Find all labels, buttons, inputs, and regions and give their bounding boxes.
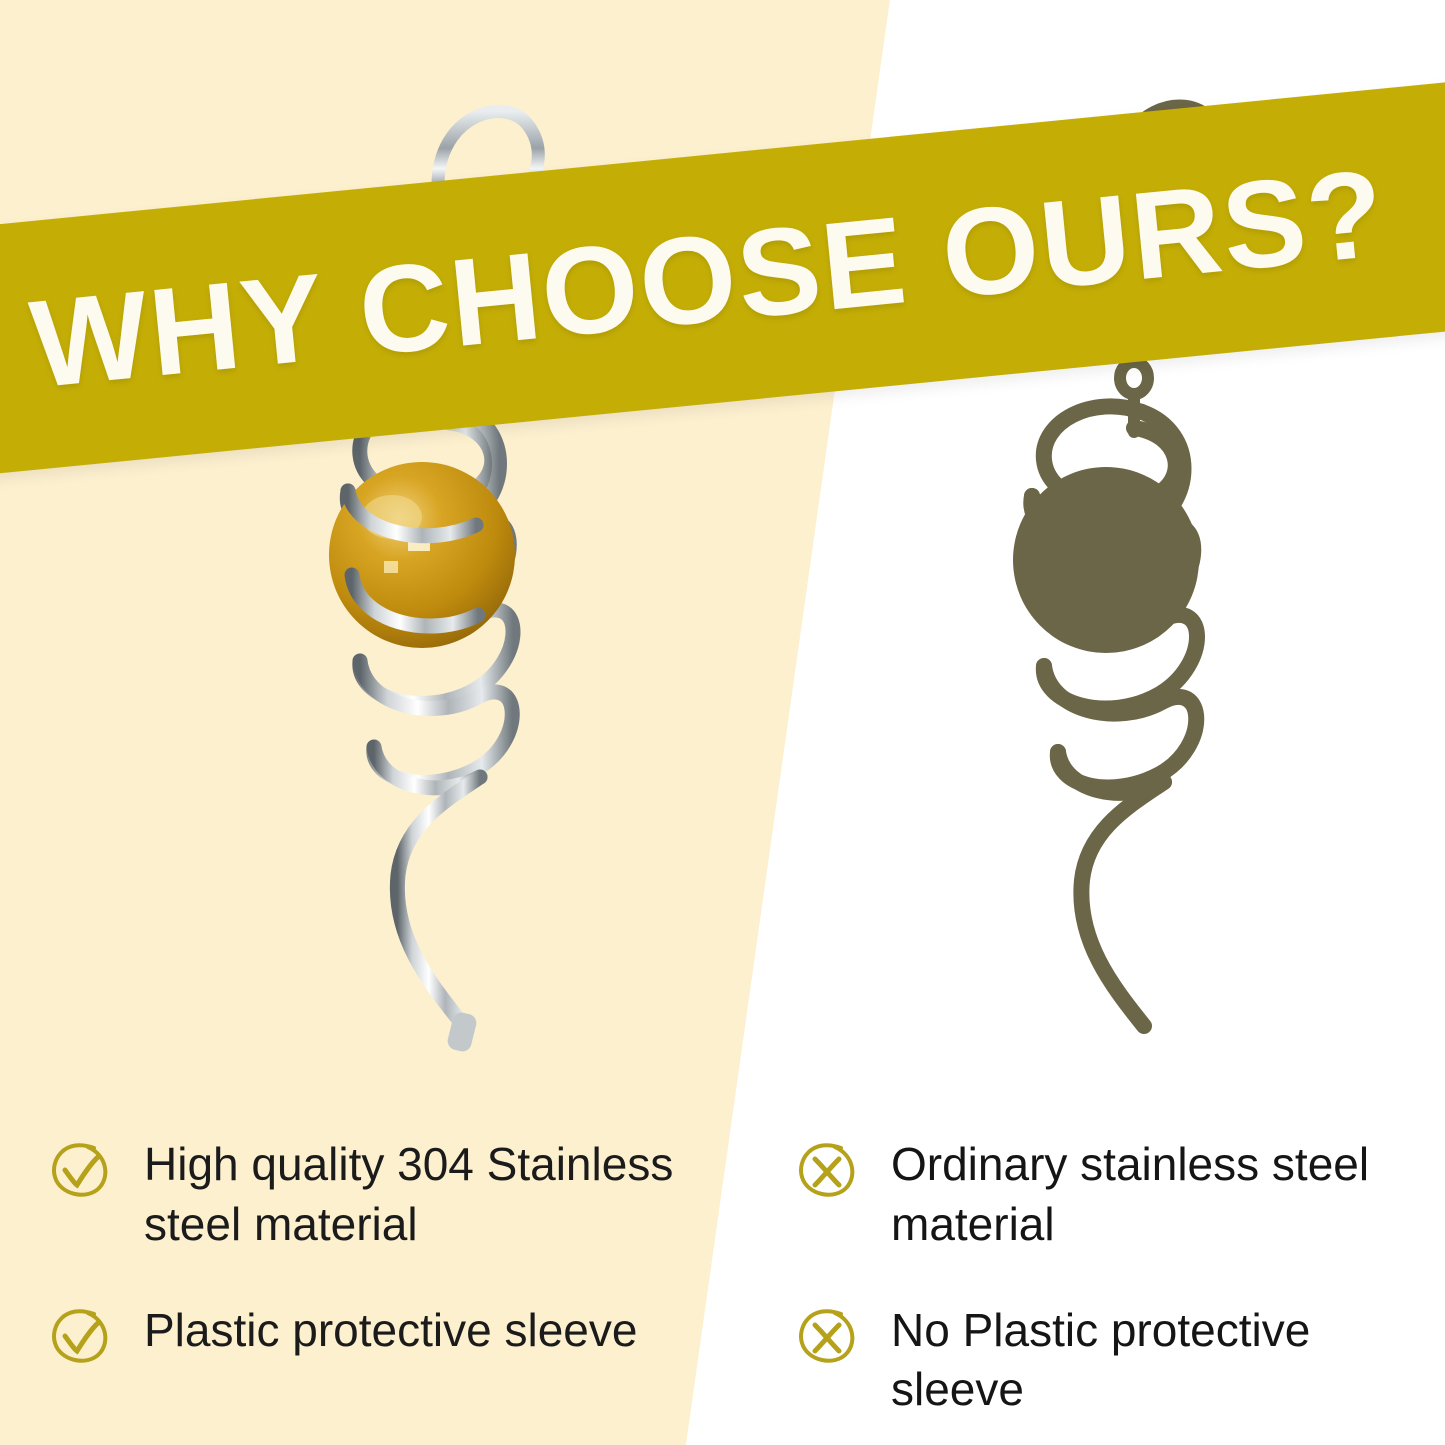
feature-item: No Plastic protective sleeve [795,1301,1445,1421]
check-circle-icon [48,1139,110,1201]
feature-label: No Plastic protective sleeve [891,1301,1445,1421]
feature-list-ordinary: Ordinary stainless steel material No Pla… [795,1135,1445,1445]
feature-label: Ordinary stainless steel material [891,1135,1445,1255]
feature-item: Ordinary stainless steel material [795,1135,1445,1255]
cross-circle-icon [795,1305,857,1367]
spiral-tail-icon [397,777,480,1021]
feature-list-ours: High quality 304 Stainless steel materia… [48,1135,738,1413]
check-circle-icon [48,1305,110,1367]
feature-item: High quality 304 Stainless steel materia… [48,1135,738,1255]
feature-label: Plastic protective sleeve [144,1301,637,1361]
infographic-canvas: WHY CHOOSE OURS? High quality 304 Stainl… [0,0,1445,1445]
feature-label: High quality 304 Stainless steel materia… [144,1135,738,1255]
feature-item: Plastic protective sleeve [48,1301,738,1367]
cross-circle-icon [795,1139,857,1201]
